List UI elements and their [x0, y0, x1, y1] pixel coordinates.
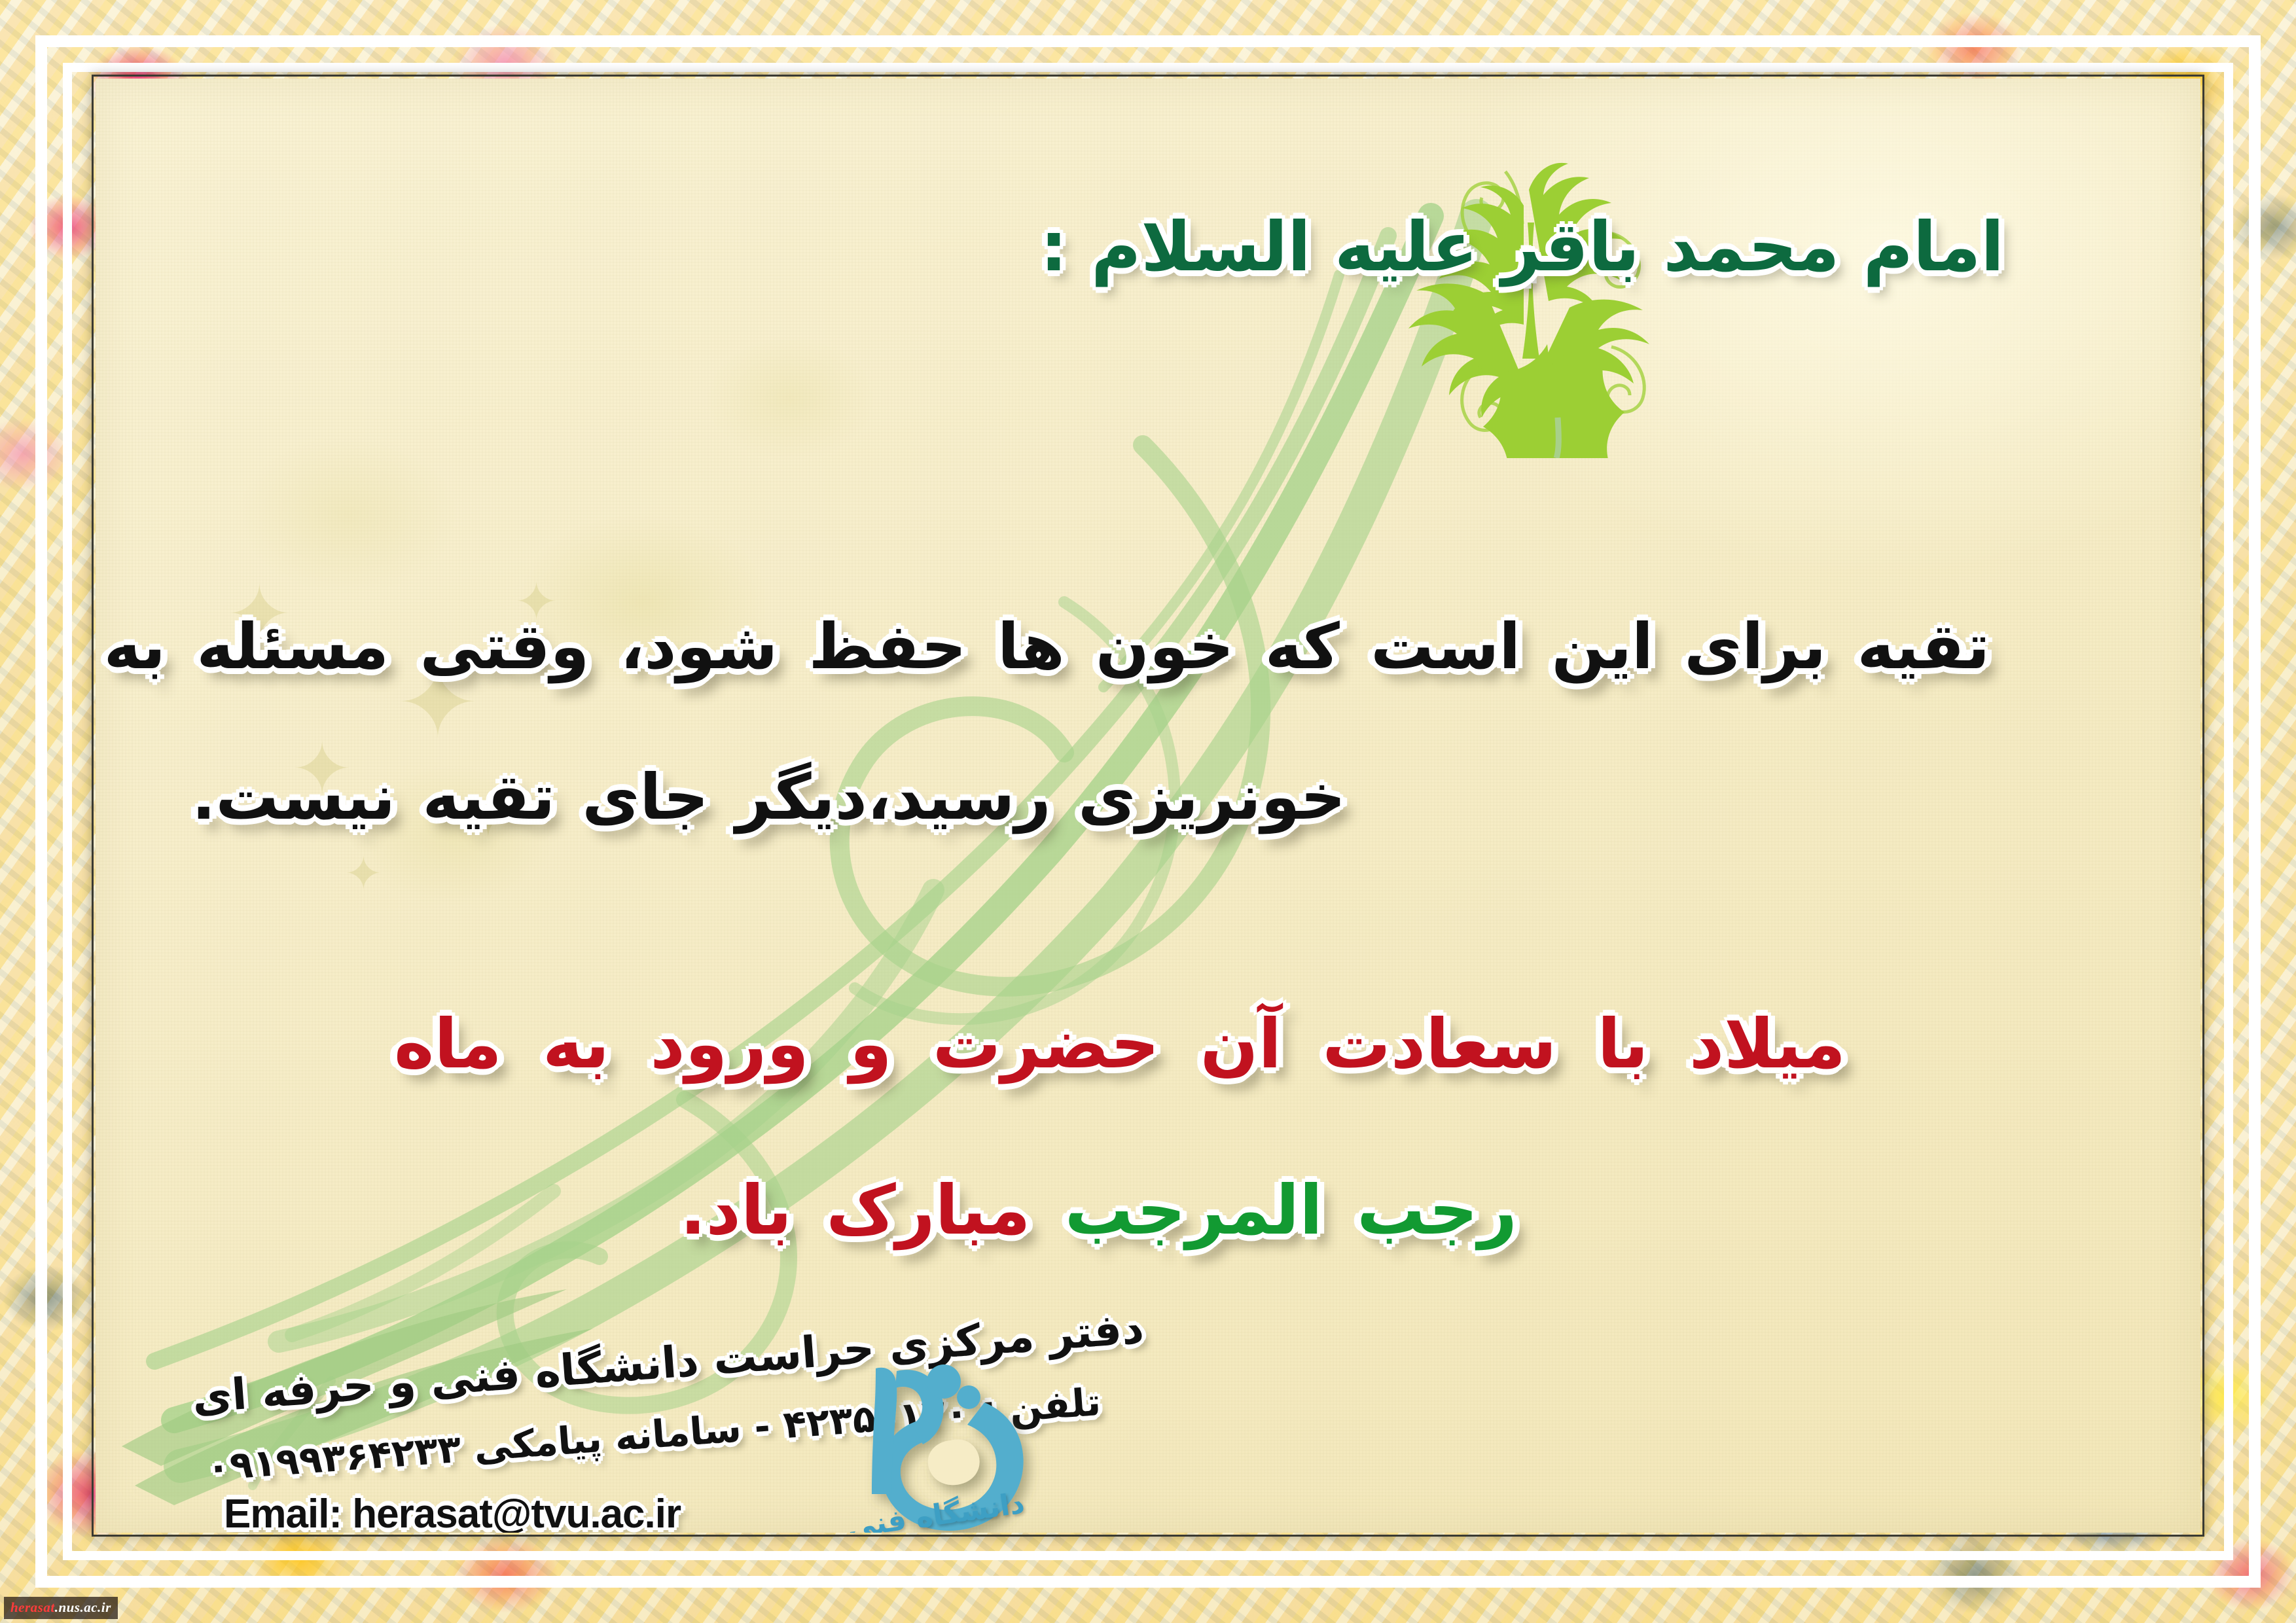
border-white-band-left-2 — [63, 63, 72, 1560]
border-white-band-top — [35, 35, 2261, 47]
inner-frame-border — [92, 75, 2204, 1537]
poster-root: ✦ ✦ ✦ ✦ ✦ ✦ — [0, 0, 2296, 1623]
border-white-band-right-2 — [2224, 63, 2233, 1560]
watermark-part-a: herasat — [10, 1599, 55, 1615]
watermark-part-b: .nus.ac.ir — [55, 1599, 111, 1615]
source-watermark: herasat.nus.ac.ir — [4, 1597, 118, 1619]
border-white-band-bottom-2 — [63, 1551, 2233, 1560]
border-white-band-top-2 — [63, 63, 2233, 72]
border-white-band-right — [2249, 35, 2261, 1588]
border-white-band-bottom — [35, 1576, 2261, 1588]
border-white-band-left — [35, 35, 47, 1588]
